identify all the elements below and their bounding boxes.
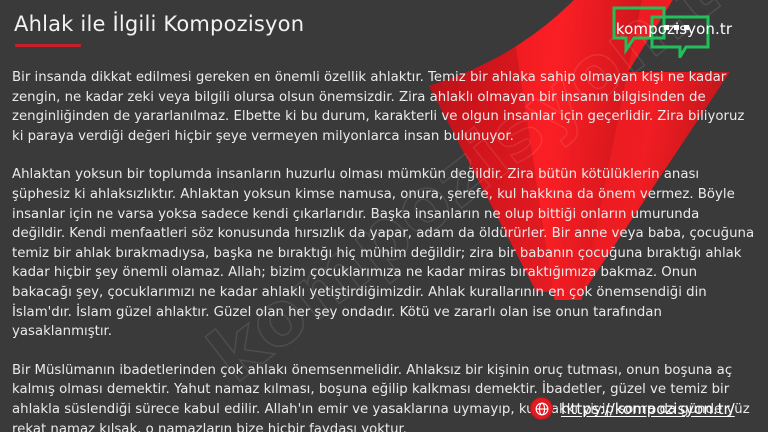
paragraph-2: Ahlaktan yoksun bir toplumda insanların … [12,165,756,341]
article-body: Bir insanda dikkat edilmesi gereken en ö… [12,68,756,432]
logo-text: kompozisyon.tr [598,20,750,38]
page-header: Ahlak ile İlgili Kompozisyon kompozisyon… [0,0,768,64]
site-logo[interactable]: kompozisyon.tr [592,4,752,58]
site-link-footer[interactable]: https://kompozisyon.tr/ [531,398,735,419]
composition-page: kompozisyon.tr Ahlak ile İlgili Kompozis… [0,0,768,432]
site-url-link[interactable]: https://kompozisyon.tr/ [561,400,735,418]
title-underline [15,44,81,47]
paragraph-1: Bir insanda dikkat edilmesi gereken en ö… [12,68,756,146]
paragraph-3: Bir Müslümanın ibadetlerinden çok ahlakı… [12,361,756,432]
globe-icon [531,398,552,419]
page-title: Ahlak ile İlgili Kompozisyon [14,12,304,36]
